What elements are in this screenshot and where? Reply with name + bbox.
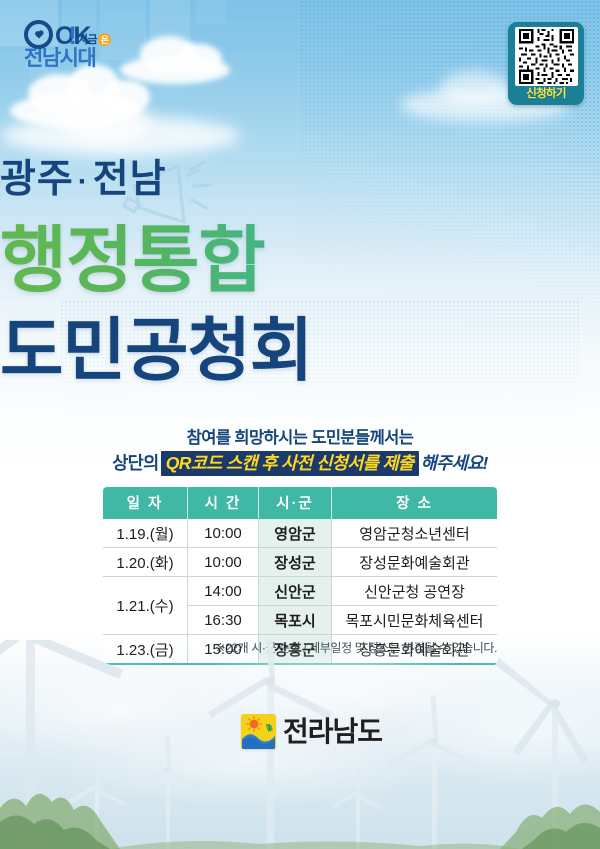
title-headline: 행정통합 [0, 224, 600, 297]
province-logo: 전라남도 [241, 714, 382, 749]
cell-date: 1.20.(화) [103, 548, 188, 577]
cell-venue: 목포시민문화체육센터 [332, 606, 498, 635]
poster-root: OK ! 지금은 전남시대 [0, 0, 600, 849]
qr-code-icon[interactable] [515, 27, 578, 86]
table-row: 1.21.(수) 14:00 신안군 신안군청 공연장 [103, 577, 497, 606]
schedule-table-head: 일 자 시 간 시·군 장 소 [103, 487, 497, 519]
table-row: 1.20.(화) 10:00 장성군 장성문화예술회관 [103, 548, 497, 577]
cell-venue: 신안군청 공연장 [332, 577, 498, 606]
cell-date: 1.19.(월) [103, 519, 188, 548]
subtitle-lead: 상단의 [112, 453, 159, 473]
header-venue: 장 소 [332, 487, 498, 519]
qr-apply-label[interactable]: 신청하기 [526, 89, 566, 101]
subtitle-highlight: QR코드 스캔 후 사전 신청서를 제출 [161, 451, 419, 476]
cell-time: 16:30 [188, 606, 259, 635]
province-name: 전라남도 [283, 718, 382, 746]
ok-logo-row-top: OK ! 지금은 [24, 20, 144, 49]
cell-sigun: 장성군 [259, 548, 332, 577]
heart-in-o-icon [24, 20, 53, 49]
cell-time: 10:00 [188, 519, 259, 548]
jeollanamdo-emblem-icon [241, 714, 276, 749]
subtitle-line-1: 참여를 희망하시는 도민분들께서는 [0, 424, 600, 448]
cell-sigun: 신안군 [259, 577, 332, 606]
header-date: 일 자 [103, 487, 188, 519]
ok-logo-jigeum: 지금은 [78, 31, 111, 47]
title-separator: · [74, 165, 93, 198]
table-header-row: 일 자 시 간 시·군 장 소 [103, 487, 497, 519]
cell-date: 1.21.(수) [103, 577, 188, 635]
ok-jeonnam-logo: OK ! 지금은 전남시대 [24, 20, 144, 70]
cell-sigun: 목포시 [259, 606, 332, 635]
cell-sigun: 영암군 [259, 519, 332, 548]
qr-apply-block[interactable]: 신청하기 [508, 22, 584, 105]
header-sigun: 시·군 [259, 487, 332, 519]
ok-logo-bang: ! [69, 24, 76, 49]
title-region-jeonnam: 전남 [93, 158, 167, 201]
title-region-gwangju: 광주 [0, 158, 74, 201]
cell-venue: 영암군청소년센터 [332, 519, 498, 548]
table-row: 1.19.(월) 10:00 영암군 영암군청소년센터 [103, 519, 497, 548]
cell-venue: 장성문화예술회관 [332, 548, 498, 577]
ok-logo-era: 전남시대 [24, 48, 144, 70]
subtitle-line-2: 상단의QR코드 스캔 후 사전 신청서를 제출해주세요! [0, 450, 600, 475]
cell-time: 14:00 [188, 577, 259, 606]
cell-time: 10:00 [188, 548, 259, 577]
header-time: 시 간 [188, 487, 259, 519]
subtitle-tail: 해주세요! [421, 453, 488, 473]
title-region-line: 광주·전남 [0, 160, 600, 199]
ok-logo-eun-badge: 은 [98, 33, 111, 46]
title-subhead: 도민공청회 [0, 316, 600, 385]
